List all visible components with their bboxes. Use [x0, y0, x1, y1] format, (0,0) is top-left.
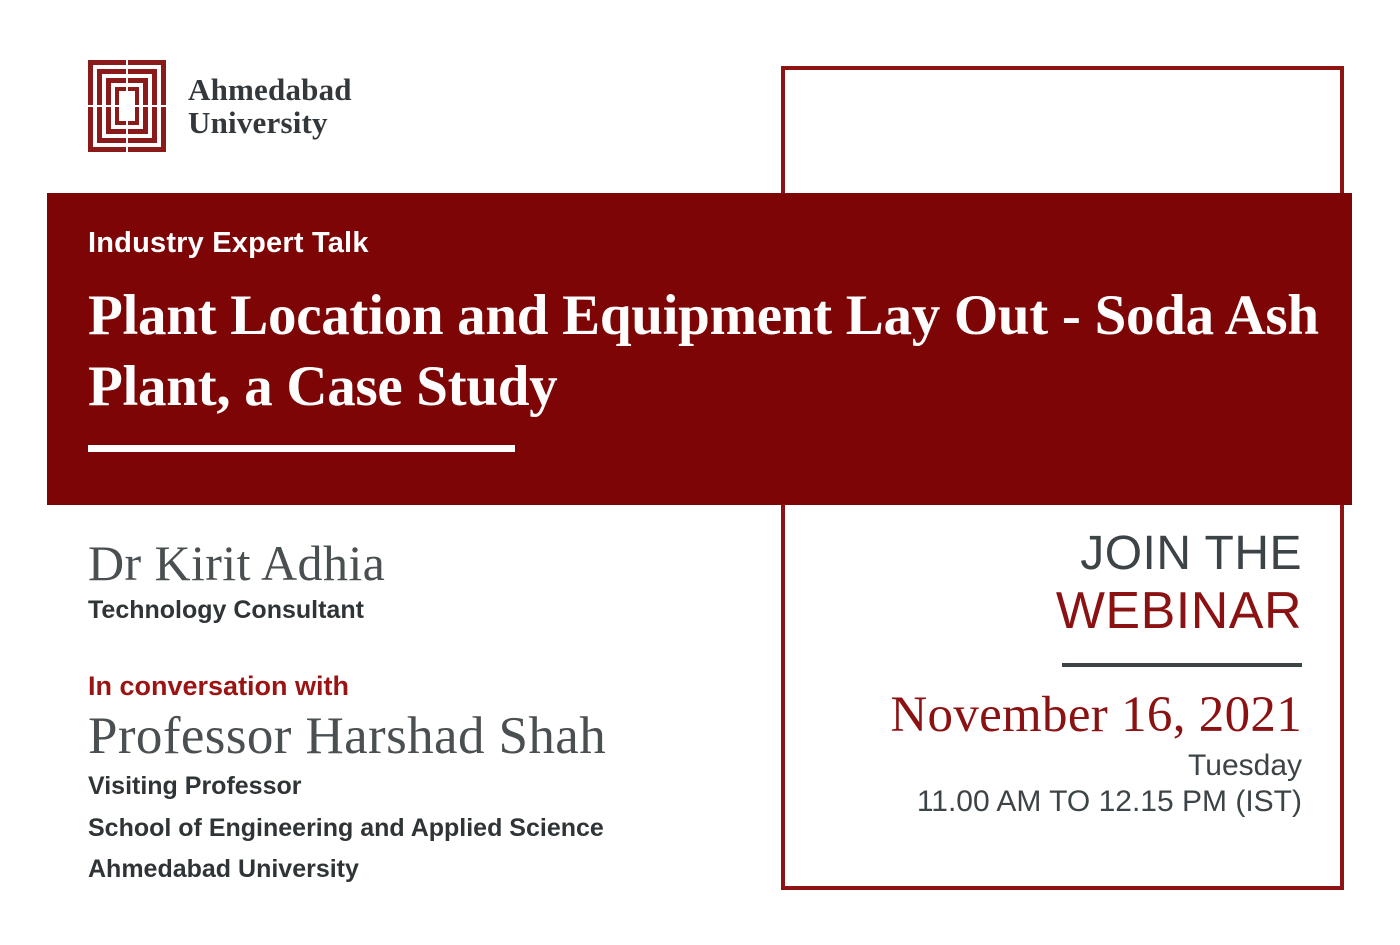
title-banner: Industry Expert Talk Plant Location and … [47, 193, 1352, 505]
secondary-speaker-institution: Ahmedabad University [88, 851, 748, 889]
wordmark-line-2: University [188, 106, 352, 139]
event-time-range: 11.00 AM TO 12.15 PM (IST) [800, 785, 1302, 819]
university-wordmark: Ahmedabad University [188, 73, 352, 140]
speakers-section: Dr Kirit Adhia Technology Consultant In … [88, 536, 748, 889]
primary-speaker-role: Technology Consultant [88, 596, 748, 625]
event-type-kicker: Industry Expert Talk [88, 227, 1352, 260]
join-heading-line-2: WEBINAR [800, 583, 1302, 639]
event-weekday: Tuesday [800, 749, 1302, 783]
in-conversation-with-label: In conversation with [88, 671, 748, 702]
logo-quadrant-top-right [128, 60, 166, 105]
nested-squares-logo-icon [88, 60, 166, 152]
secondary-speaker-school: School of Engineering and Applied Scienc… [88, 810, 748, 848]
university-logo-lockup: Ahmedabad University [88, 60, 352, 152]
primary-speaker-name: Dr Kirit Adhia [88, 536, 748, 590]
secondary-speaker-role: Visiting Professor [88, 768, 748, 806]
webinar-poster: Ahmedabad University Industry Expert Tal… [0, 0, 1400, 945]
logo-quadrant-bottom-right [128, 107, 166, 152]
join-webinar-panel: JOIN THE WEBINAR November 16, 2021 Tuesd… [800, 530, 1324, 819]
join-heading-line-1: JOIN THE [800, 530, 1302, 579]
event-date: November 16, 2021 [800, 689, 1302, 743]
talk-title: Plant Location and Equipment Lay Out - S… [88, 280, 1338, 423]
wordmark-line-1: Ahmedabad [188, 73, 352, 106]
logo-quadrant-bottom-left [88, 107, 126, 152]
title-underline-rule [88, 445, 515, 452]
logo-quadrant-top-left [88, 60, 126, 105]
secondary-speaker-name: Professor Harshad Shah [88, 708, 748, 764]
join-divider-rule [1062, 663, 1302, 667]
